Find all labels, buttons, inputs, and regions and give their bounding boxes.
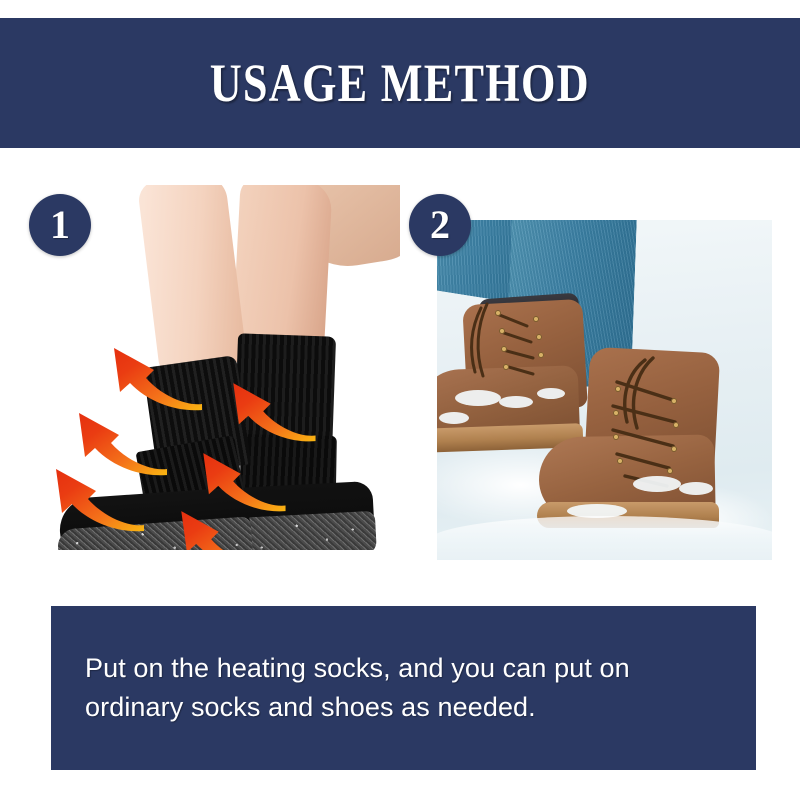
eyelet-icon (613, 434, 619, 440)
infographic-page: USAGE METHOD 1 (0, 0, 800, 800)
snow-patch (439, 412, 469, 424)
snow-foreground (437, 516, 772, 560)
heat-arrow-icon-6 (158, 485, 270, 550)
caption-text: Put on the heating socks, and you can pu… (51, 649, 756, 727)
caption-box: Put on the heating socks, and you can pu… (51, 606, 756, 770)
eyelet-icon (501, 346, 507, 352)
eyelet-icon (536, 334, 542, 340)
eyelet-icon (538, 352, 544, 358)
eyelet-icon (613, 410, 619, 416)
eyelet-icon (533, 316, 539, 322)
snow-patch (499, 396, 533, 408)
eyelet-icon (617, 458, 623, 464)
eyelet-icon (615, 386, 621, 392)
page-title: USAGE METHOD (210, 52, 590, 114)
step-1-image-heating-socks (40, 185, 400, 550)
step-2-image-boots-in-snow (437, 220, 772, 560)
eyelet-icon (671, 446, 677, 452)
eyelet-icon (495, 310, 501, 316)
snow-patch (455, 390, 501, 406)
step-badge-2: 2 (409, 194, 471, 256)
step-number-1: 1 (50, 205, 70, 245)
eyelet-icon (671, 398, 677, 404)
snow-patch (679, 482, 713, 495)
header-banner: USAGE METHOD (0, 18, 800, 148)
snow-patch (633, 476, 681, 492)
heat-arrow-icon-3 (40, 441, 150, 533)
snow-patch (537, 388, 565, 399)
step-badge-1: 1 (29, 194, 91, 256)
eyelet-icon (503, 364, 509, 370)
eyelet-icon (667, 468, 673, 474)
eyelet-icon (673, 422, 679, 428)
eyelet-icon (499, 328, 505, 334)
step-number-2: 2 (430, 205, 450, 245)
